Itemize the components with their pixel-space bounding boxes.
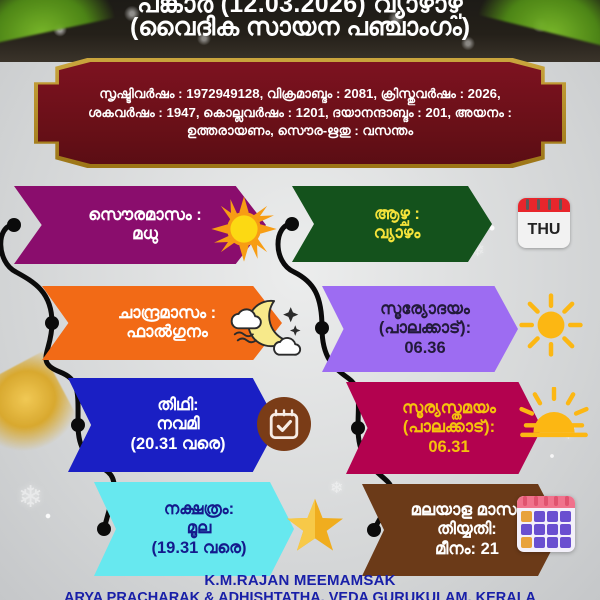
- sun-big-icon: [518, 292, 584, 358]
- calendar-check-icon: [256, 396, 312, 452]
- footer-organisation: ARYA PRACHARAK & ADHISHTATHA, VEDA GURUK…: [0, 590, 600, 600]
- plaque-body: സൃഷ്ടിവര്‍ഷം : 1972949128, വിക്രമാബ്ദം :…: [38, 62, 562, 164]
- card-solar-month-text: സൌരമാസം :മധു: [62, 206, 218, 245]
- thursday-label: THU: [518, 212, 570, 248]
- page-title-line2: (വൈദിക സായന പഞ്ചാംഗം): [0, 13, 600, 42]
- star-icon: [282, 496, 348, 554]
- panchangam-poster: ❄ ❄ ❄ ❄ ❄ ❄ ❄ പങ്കാര്‍ (12.03.2026) വ്യാ…: [0, 0, 600, 600]
- card-lunar-month-text: ചാന്ദ്രമാസം :ഫാല്‍ഗുനം: [92, 304, 232, 343]
- card-nakshatra-text: നക്ഷത്രം:മൂല(19.31 വരെ): [126, 500, 263, 558]
- card-weekday[interactable]: ആഴ്ച :വ്യാഴം: [292, 186, 492, 262]
- card-sunset[interactable]: സൂര്യസ്തമയം(പാലക്കാട്):06.31: [346, 382, 542, 474]
- thursday-calendar-icon: THU: [516, 194, 572, 252]
- era-info-text: സൃഷ്ടിവര്‍ഷം : 1972949128, വിക്രമാബ്ദം :…: [68, 85, 532, 141]
- card-sunrise[interactable]: സൂര്യോദയം(പാലക്കാട്):06.36: [322, 286, 518, 372]
- moon-cloud-icon: [226, 294, 304, 358]
- era-info-plaque: സൃഷ്ടിവര്‍ഷം : 1972949128, വിക്രമാബ്ദം :…: [34, 58, 566, 168]
- card-tithi[interactable]: തിഥി:നവമി(20.31 വരെ): [68, 378, 278, 472]
- card-tithi-text: തിഥി:നവമി(20.31 വരെ): [105, 396, 242, 454]
- sunset-icon: [516, 386, 592, 444]
- calendar-grid-icon: [514, 492, 578, 556]
- sun-icon: [206, 194, 282, 264]
- card-nakshatra[interactable]: നക്ഷത്രം:മൂല(19.31 വരെ): [94, 482, 294, 576]
- card-sunset-text: സൂര്യസ്തമയം(പാലക്കാട്):06.31: [376, 399, 512, 457]
- card-weekday-text: ആഴ്ച :വ്യാഴം: [348, 205, 437, 244]
- card-sunrise-text: സൂര്യോദയം(പാലക്കാട്):06.36: [353, 300, 487, 358]
- footer-author: K.M.RAJAN MEEMAMSAK: [0, 572, 600, 589]
